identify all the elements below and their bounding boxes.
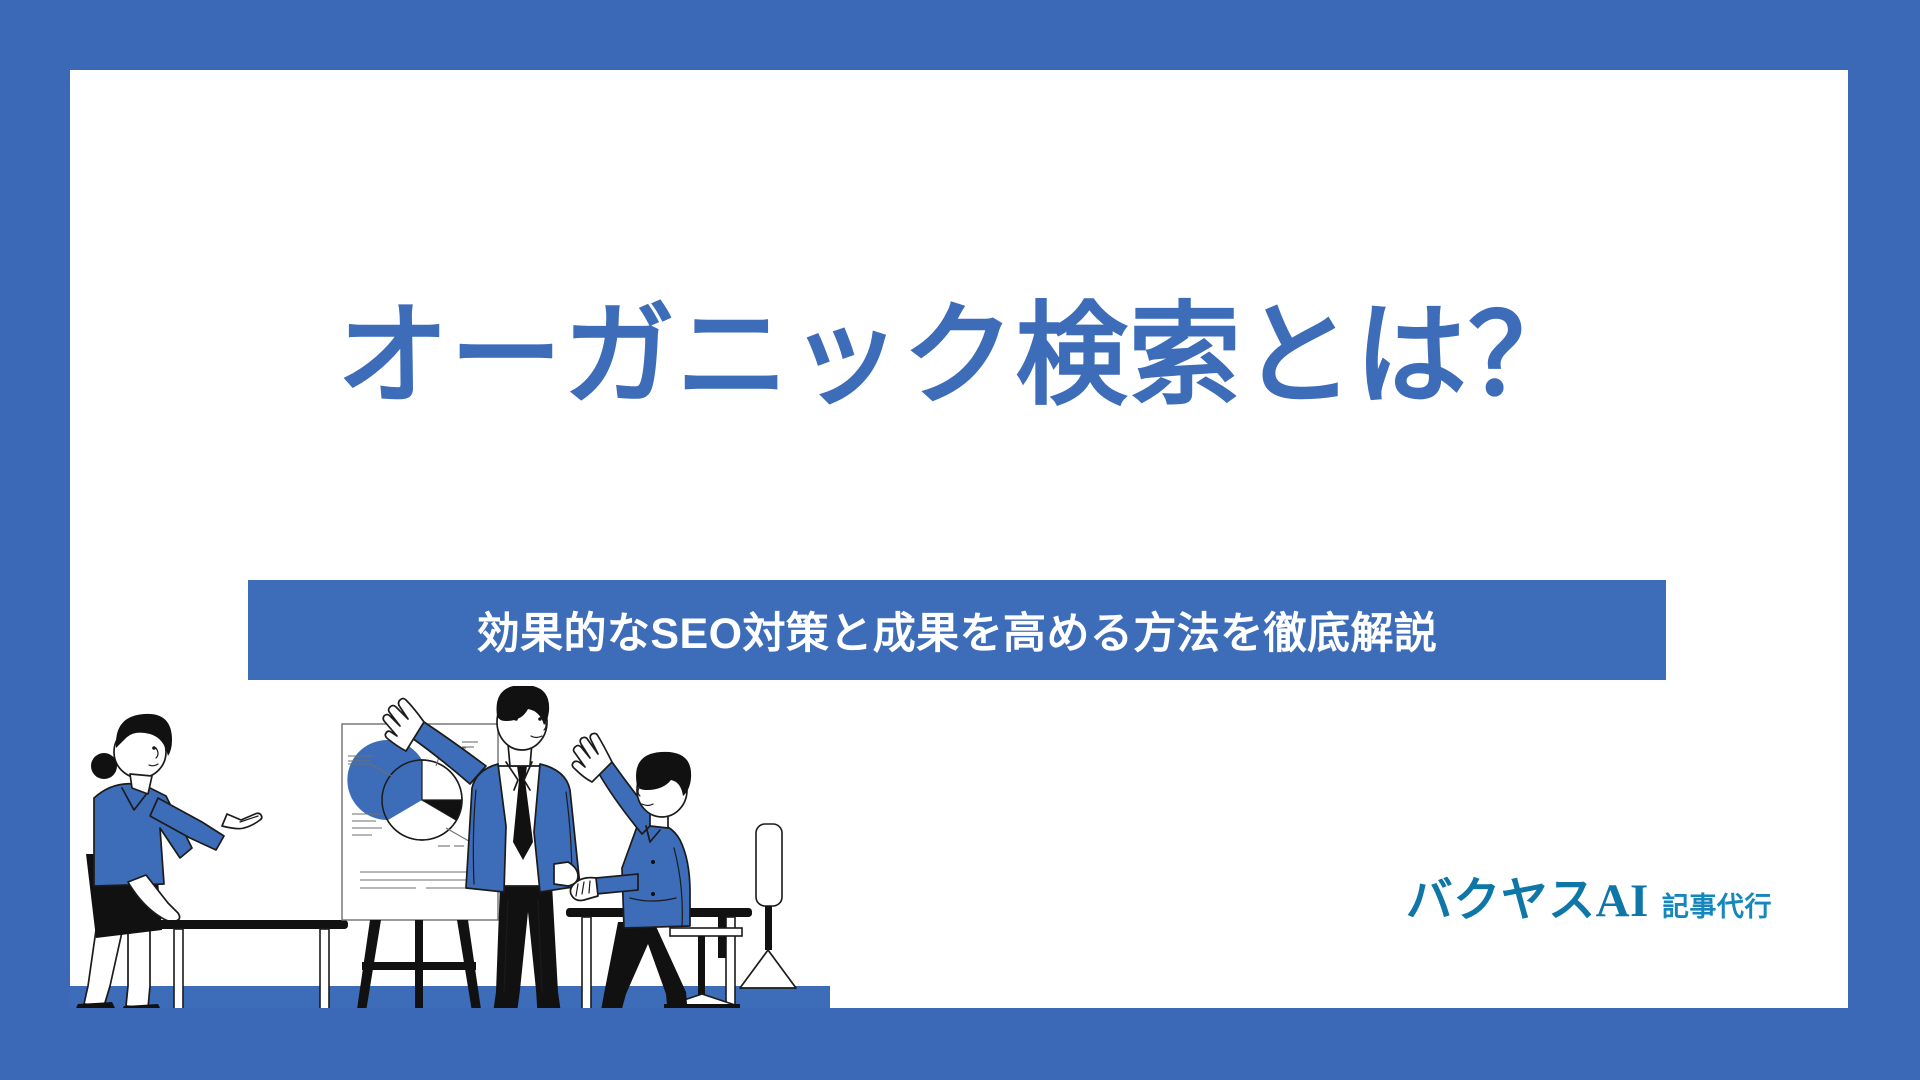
figure-seated-at-computer	[570, 733, 796, 1008]
subtitle-text: 効果的なSEO対策と成果を高める方法を徹底解説	[477, 599, 1438, 661]
brand-logo-sub-text: 記事代行	[1662, 885, 1772, 924]
brand-logo-main-text: バクヤスAI	[1406, 861, 1649, 930]
business-presentation-illustration: .ln { fill:none; stroke:#1b1b1b; stroke-…	[70, 686, 830, 1008]
slide-canvas: オーガニック検索とは？ 効果的なSEO対策と成果を高める方法を徹底解説 バクヤス…	[0, 0, 1920, 1080]
page-title: オーガニック検索とは？	[70, 292, 1848, 421]
content-card: オーガニック検索とは？ 効果的なSEO対策と成果を高める方法を徹底解説 バクヤス…	[70, 70, 1848, 1008]
subtitle-banner: 効果的なSEO対策と成果を高める方法を徹底解説	[248, 580, 1666, 680]
brand-logo: バクヤスAI 記事代行	[1406, 861, 1772, 930]
computer-monitor	[740, 824, 796, 988]
figure-woman-pointing	[76, 714, 262, 1008]
